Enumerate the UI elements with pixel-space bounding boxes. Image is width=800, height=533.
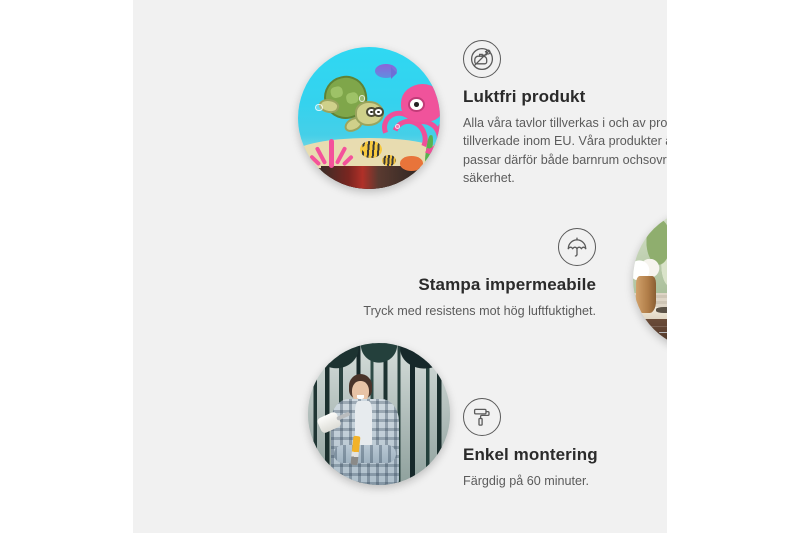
photo-forest-installer: [308, 343, 450, 485]
umbrella-icon: [558, 228, 596, 266]
feature-odor-free: Luktfri produkt Alla våra tavlor tillver…: [463, 40, 667, 188]
octopus-icon: [380, 84, 440, 149]
feature-easy-mounting: Enkel montering Färgdig på 60 minuter.: [463, 398, 667, 490]
coral-icon: [312, 131, 355, 168]
vase-icon: [636, 276, 656, 313]
soap-tray: [656, 307, 667, 313]
feature-title: Luktfri produkt: [463, 87, 667, 107]
paint-roller-icon: [463, 398, 501, 436]
feature-waterproof: Stampa impermeabile Tryck med resistens …: [313, 228, 596, 320]
woman-figure: [328, 374, 408, 485]
content-panel: Luktfri produkt Alla våra tavlor tillver…: [133, 0, 667, 533]
fish-icon: [375, 64, 398, 78]
promo-banner: Luktfri produkt Alla våra tavlor tillver…: [0, 0, 800, 533]
turtle-icon: [321, 74, 383, 128]
feature-body: Färgdig på 60 minuter.: [463, 472, 667, 491]
fish-icon: [360, 141, 381, 158]
vanity-cabinet: [642, 319, 667, 350]
feature-body: Alla våra tavlor tillverkas i och av pro…: [463, 114, 667, 189]
bubble-icon: [315, 104, 323, 112]
starfish-icon: [400, 156, 423, 170]
feature-title: Stampa impermeabile: [313, 275, 596, 295]
no-fragrance-icon: [463, 40, 501, 78]
photo-sea-life: [298, 47, 440, 189]
bubble-icon: [359, 95, 365, 101]
feature-body: Tryck med resistens mot hög luftfuktighe…: [313, 302, 596, 321]
feature-title: Enkel montering: [463, 445, 667, 465]
photo-bathroom-leaves: [633, 208, 667, 350]
